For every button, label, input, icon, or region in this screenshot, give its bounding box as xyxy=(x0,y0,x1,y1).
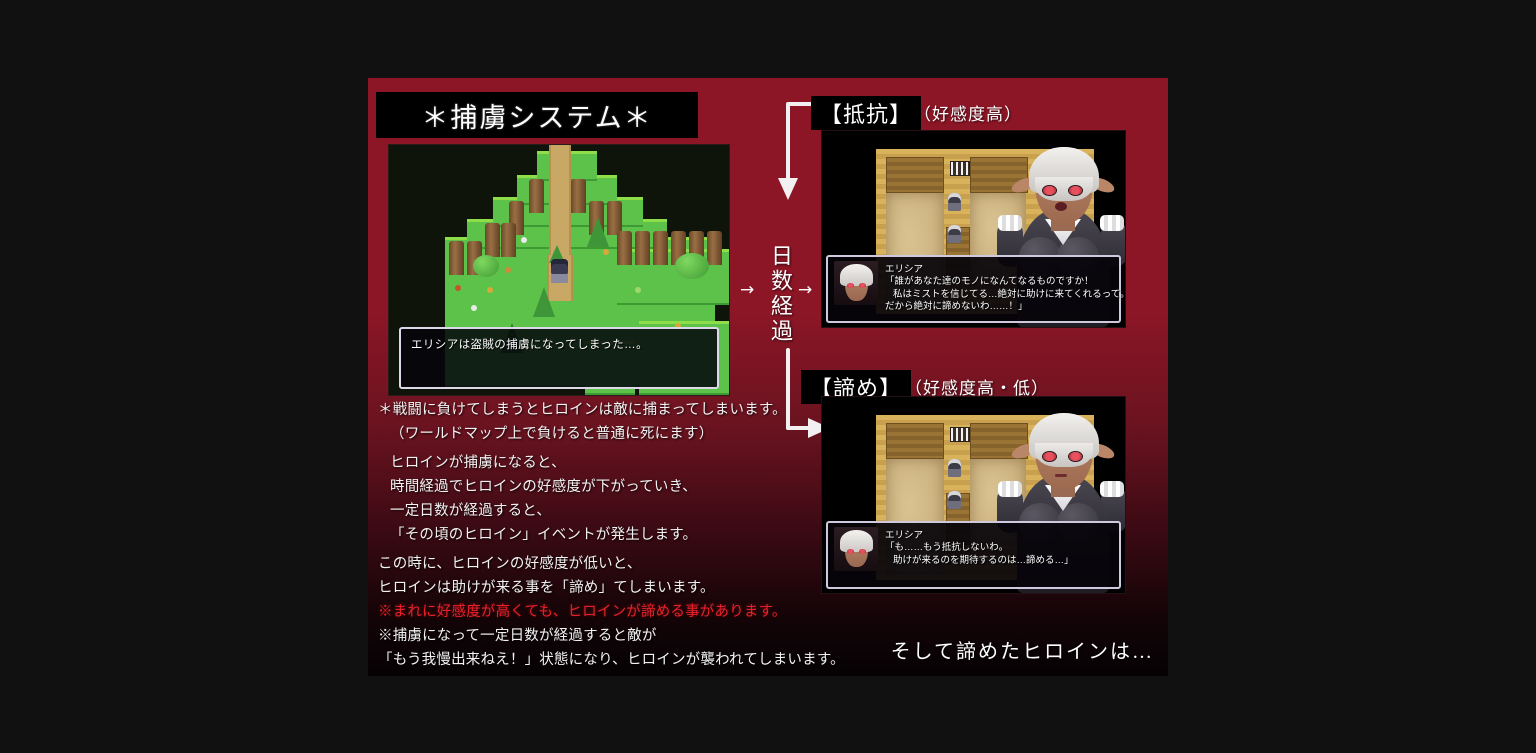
eye-left xyxy=(1043,452,1056,461)
branch-sub-resist: （好感度高） xyxy=(914,100,1022,125)
dialog-line: 助けが来るのを期待するのは…諦める…」 xyxy=(885,555,1113,568)
npc-sprite xyxy=(948,225,961,243)
closing-note: そして諦めたヒロインは… xyxy=(891,635,1154,664)
portrait-face-icon xyxy=(834,527,878,571)
dialog-line: 「も……もう抵抗しないわ。 xyxy=(885,542,1113,555)
screenshot-root: ＊捕虜システム＊ xyxy=(0,0,1536,753)
dialog-line: だから絶対に諦めないわ……！」 xyxy=(885,301,1113,314)
dialog-box-giveup: エリシア 「も……もう抵抗しないわ。 助けが来るのを期待するのは…諦める…」 xyxy=(826,521,1121,589)
sleeve-frill-left xyxy=(998,215,1022,231)
face-eye-right xyxy=(859,283,866,288)
npc-sprite xyxy=(948,459,961,477)
cell-bars xyxy=(950,161,970,176)
dialog-text-resist: エリシア 「誰があなた達のモノになんてなるものですか！ 私はミストを信じてる…絶… xyxy=(885,261,1113,314)
capture-system-panel: ＊捕虜システム＊ xyxy=(368,78,1168,676)
sleeve-frill-right xyxy=(1100,215,1124,231)
portrait-face-icon xyxy=(834,261,878,305)
npc-sprite xyxy=(948,491,961,509)
days-elapsed-label: 日数経過 xyxy=(762,244,794,344)
dialog-line: 私はミストを信じてる…絶対に助けに来てくれるって。 xyxy=(885,289,1113,302)
arrow-right-icon: → xyxy=(798,282,812,299)
wall-panel xyxy=(886,423,944,459)
speaker-name: エリシア xyxy=(885,261,1113,275)
sleeve-frill-right xyxy=(1100,481,1124,497)
eye-right xyxy=(1069,186,1082,195)
face-hair xyxy=(840,264,873,286)
arrow-left-icon: → xyxy=(740,282,754,299)
dialog-text-giveup: エリシア 「も……もう抵抗しないわ。 助けが来るのを期待するのは…諦める…」 xyxy=(885,527,1113,567)
face-eye-left xyxy=(847,549,854,554)
face-eye-right xyxy=(859,549,866,554)
eye-right xyxy=(1069,452,1082,461)
mouth-closed xyxy=(1055,474,1067,477)
speaker-name: エリシア xyxy=(885,527,1113,541)
sleeve-frill-left xyxy=(998,481,1022,497)
cell-bars xyxy=(950,427,970,442)
dialog-line: 「誰があなた達のモノになんてなるものですか！ xyxy=(885,276,1113,289)
face-hair xyxy=(840,530,873,552)
days-elapsed-column: 日数経過 → → xyxy=(740,94,818,474)
dialog-box-resist: エリシア 「誰があなた達のモノになんてなるものですか！ 私はミストを信じてる…絶… xyxy=(826,255,1121,323)
face-eye-left xyxy=(847,283,854,288)
wall-panel xyxy=(886,157,944,193)
scene-resist: エリシア 「誰があなた達のモノになんてなるものですか！ 私はミストを信じてる…絶… xyxy=(821,130,1126,328)
branch-tag-resist: 【抵抗】 xyxy=(811,96,921,130)
branch-tag-resist-label: 【抵抗】 xyxy=(820,97,912,129)
npc-sprite xyxy=(948,193,961,211)
scene-giveup: エリシア 「も……もう抵抗しないわ。 助けが来るのを期待するのは…諦める…」 xyxy=(821,396,1126,594)
eye-left xyxy=(1043,186,1056,195)
mouth-open xyxy=(1055,202,1067,211)
